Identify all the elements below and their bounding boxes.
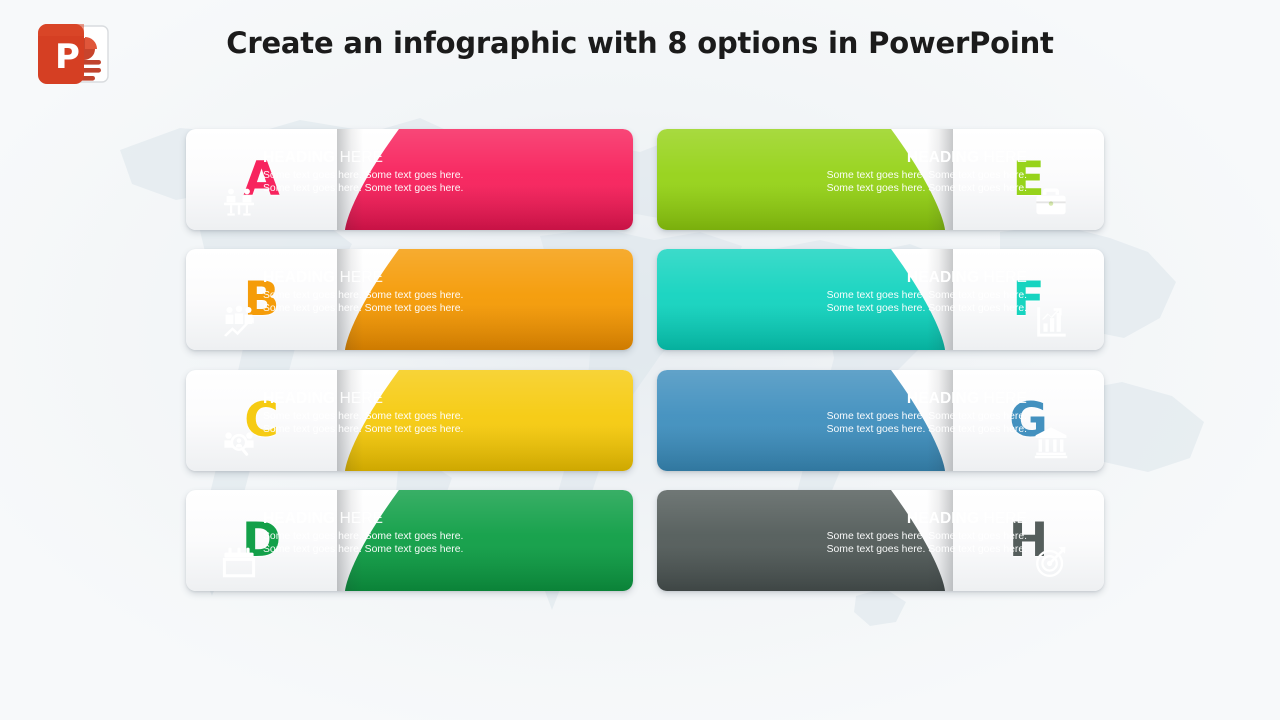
- slide-canvas: P Create an infographic with 8 options i…: [0, 0, 1280, 720]
- option-card-e[interactable]: EHEADING HERESome text goes here. Some t…: [657, 129, 1104, 230]
- option-body-text: Some text goes here. Some text goes here…: [822, 169, 1027, 195]
- briefcase-icon: [1034, 184, 1068, 218]
- option-heading: HEADING HERE: [263, 149, 468, 166]
- people-search-icon: [222, 425, 256, 459]
- option-body-text: Some text goes here. Some text goes here…: [263, 410, 468, 436]
- option-card-f[interactable]: FHEADING HERESome text goes here. Some t…: [657, 249, 1104, 350]
- option-heading: HEADING HERE: [822, 510, 1027, 527]
- option-heading: HEADING HERE: [263, 269, 468, 286]
- option-card-c[interactable]: CHEADING HERESome text goes here. Some t…: [186, 370, 633, 471]
- option-heading-light: HERE: [984, 269, 1027, 286]
- bar-chart-icon: [1034, 304, 1068, 338]
- target-icon: [1034, 545, 1068, 579]
- option-heading-bold: HEADING: [263, 510, 335, 527]
- option-heading: HEADING HERE: [263, 510, 468, 527]
- option-text-block: HEADING HERESome text goes here. Some te…: [263, 149, 468, 195]
- option-card-g[interactable]: GHEADING HERESome text goes here. Some t…: [657, 370, 1104, 471]
- option-text-block: HEADING HERESome text goes here. Some te…: [263, 510, 468, 556]
- option-body-text: Some text goes here. Some text goes here…: [822, 289, 1027, 315]
- option-text-block: HEADING HERESome text goes here. Some te…: [822, 269, 1027, 315]
- option-text-block: HEADING HERESome text goes here. Some te…: [263, 390, 468, 436]
- option-body-text: Some text goes here. Some text goes here…: [263, 530, 468, 556]
- option-text-block: HEADING HERESome text goes here. Some te…: [822, 149, 1027, 195]
- option-heading-bold: HEADING: [263, 269, 335, 286]
- option-heading: HEADING HERE: [822, 149, 1027, 166]
- option-heading-light: HERE: [984, 510, 1027, 527]
- option-card-a[interactable]: AHEADING HERESome text goes here. Some t…: [186, 129, 633, 230]
- option-body-text: Some text goes here. Some text goes here…: [263, 169, 468, 195]
- option-heading-light: HERE: [340, 269, 383, 286]
- option-heading: HEADING HERE: [822, 390, 1027, 407]
- option-heading-light: HERE: [340, 149, 383, 166]
- options-board: AHEADING HERESome text goes here. Some t…: [0, 0, 1280, 720]
- option-heading-light: HERE: [984, 149, 1027, 166]
- option-heading-bold: HEADING: [907, 390, 979, 407]
- option-text-block: HEADING HERESome text goes here. Some te…: [263, 269, 468, 315]
- option-card-d[interactable]: DHEADING HERESome text goes here. Some t…: [186, 490, 633, 591]
- option-heading-bold: HEADING: [263, 149, 335, 166]
- option-text-block: HEADING HERESome text goes here. Some te…: [822, 390, 1027, 436]
- people-growth-icon: [222, 304, 256, 338]
- option-body-text: Some text goes here. Some text goes here…: [822, 530, 1027, 556]
- option-heading: HEADING HERE: [263, 390, 468, 407]
- option-heading-light: HERE: [340, 510, 383, 527]
- option-card-b[interactable]: BHEADING HERESome text goes here. Some t…: [186, 249, 633, 350]
- option-heading-bold: HEADING: [907, 510, 979, 527]
- option-text-block: HEADING HERESome text goes here. Some te…: [822, 510, 1027, 556]
- option-body-text: Some text goes here. Some text goes here…: [822, 410, 1027, 436]
- option-heading-light: HERE: [340, 390, 383, 407]
- calendar-icon: [222, 545, 256, 579]
- option-heading-bold: HEADING: [907, 269, 979, 286]
- option-heading-bold: HEADING: [907, 149, 979, 166]
- bank-icon: [1034, 425, 1068, 459]
- option-heading-light: HERE: [984, 390, 1027, 407]
- option-heading: HEADING HERE: [822, 269, 1027, 286]
- option-heading-bold: HEADING: [263, 390, 335, 407]
- meeting-icon: [222, 184, 256, 218]
- option-card-h[interactable]: HHEADING HERESome text goes here. Some t…: [657, 490, 1104, 591]
- option-body-text: Some text goes here. Some text goes here…: [263, 289, 468, 315]
